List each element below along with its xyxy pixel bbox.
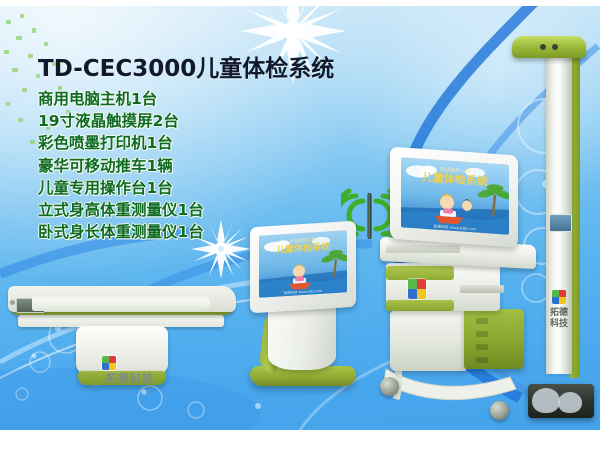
poster-canvas: TD-CEC3000儿童体检系统 商用电脑主机1台 19寸液晶触摸屏2台 彩色喷…: [0, 6, 600, 430]
table-pedestal: [76, 326, 168, 374]
product-infant-measuring-table: [8, 278, 243, 413]
analyser-footprint-left: [532, 388, 560, 413]
printer-output-slot: [460, 285, 504, 293]
trolley-touchscreen[interactable]: 儿童体检系统 欢迎使用儿童 拓德科技 www.tdkj.com: [401, 157, 509, 235]
list-item: 19寸液晶触摸屏2台: [38, 110, 204, 132]
analyser-brand-label: 拓德科技: [550, 308, 568, 330]
console-touchscreen[interactable]: 儿童体检系统 欢迎使用儿童 拓德科技 www.tdkj.com: [259, 230, 347, 297]
analyser-ultrasonic-head: [512, 36, 586, 58]
product-standing-height-weight-analyser: 拓德科技: [512, 36, 598, 428]
spec-list: 商用电脑主机1台 19寸液晶触摸屏2台 彩色喷墨打印机1台 豪华可移动推车1辆 …: [38, 88, 204, 243]
analyser-brand-logo-icon: [552, 290, 566, 304]
list-item: 儿童专用操作台1台: [38, 177, 204, 199]
trolley-wheel-right: [490, 401, 509, 420]
list-item: 卧式身长体重测量仪1台: [38, 221, 204, 243]
trolley-green-band-upper: [386, 266, 454, 280]
trolley-keyboard-tray[interactable]: [386, 245, 460, 253]
list-item: 彩色喷墨打印机1台: [38, 132, 204, 154]
trolley-wheel-left: [380, 377, 399, 396]
trolley-brand-logo-icon: [408, 279, 426, 299]
trolley-green-band-lower: [386, 300, 454, 311]
brand-name-label: 拓德科技: [92, 370, 168, 386]
analyser-display-panel: [549, 214, 572, 232]
table-knob: [10, 300, 15, 305]
product-poster: TD-CEC3000儿童体检系统 商用电脑主机1台 19寸液晶触摸屏2台 彩色喷…: [0, 0, 600, 450]
table-measuring-trough: [32, 294, 210, 311]
list-item: 豪华可移动推车1辆: [38, 155, 204, 177]
product-children-console: 儿童体检系统 欢迎使用儿童 拓德科技 www.tdkj.com: [246, 224, 368, 404]
list-item: 立式身高体重测量仪1台: [38, 199, 204, 221]
analyser-footprint-right: [558, 392, 582, 413]
page-title: TD-CEC3000儿童体检系统: [38, 49, 334, 83]
trolley-column: [390, 311, 466, 371]
list-item: 商用电脑主机1台: [38, 88, 204, 110]
brand-logo-icon: [102, 356, 116, 370]
trolley-leg-assembly: [380, 365, 528, 407]
